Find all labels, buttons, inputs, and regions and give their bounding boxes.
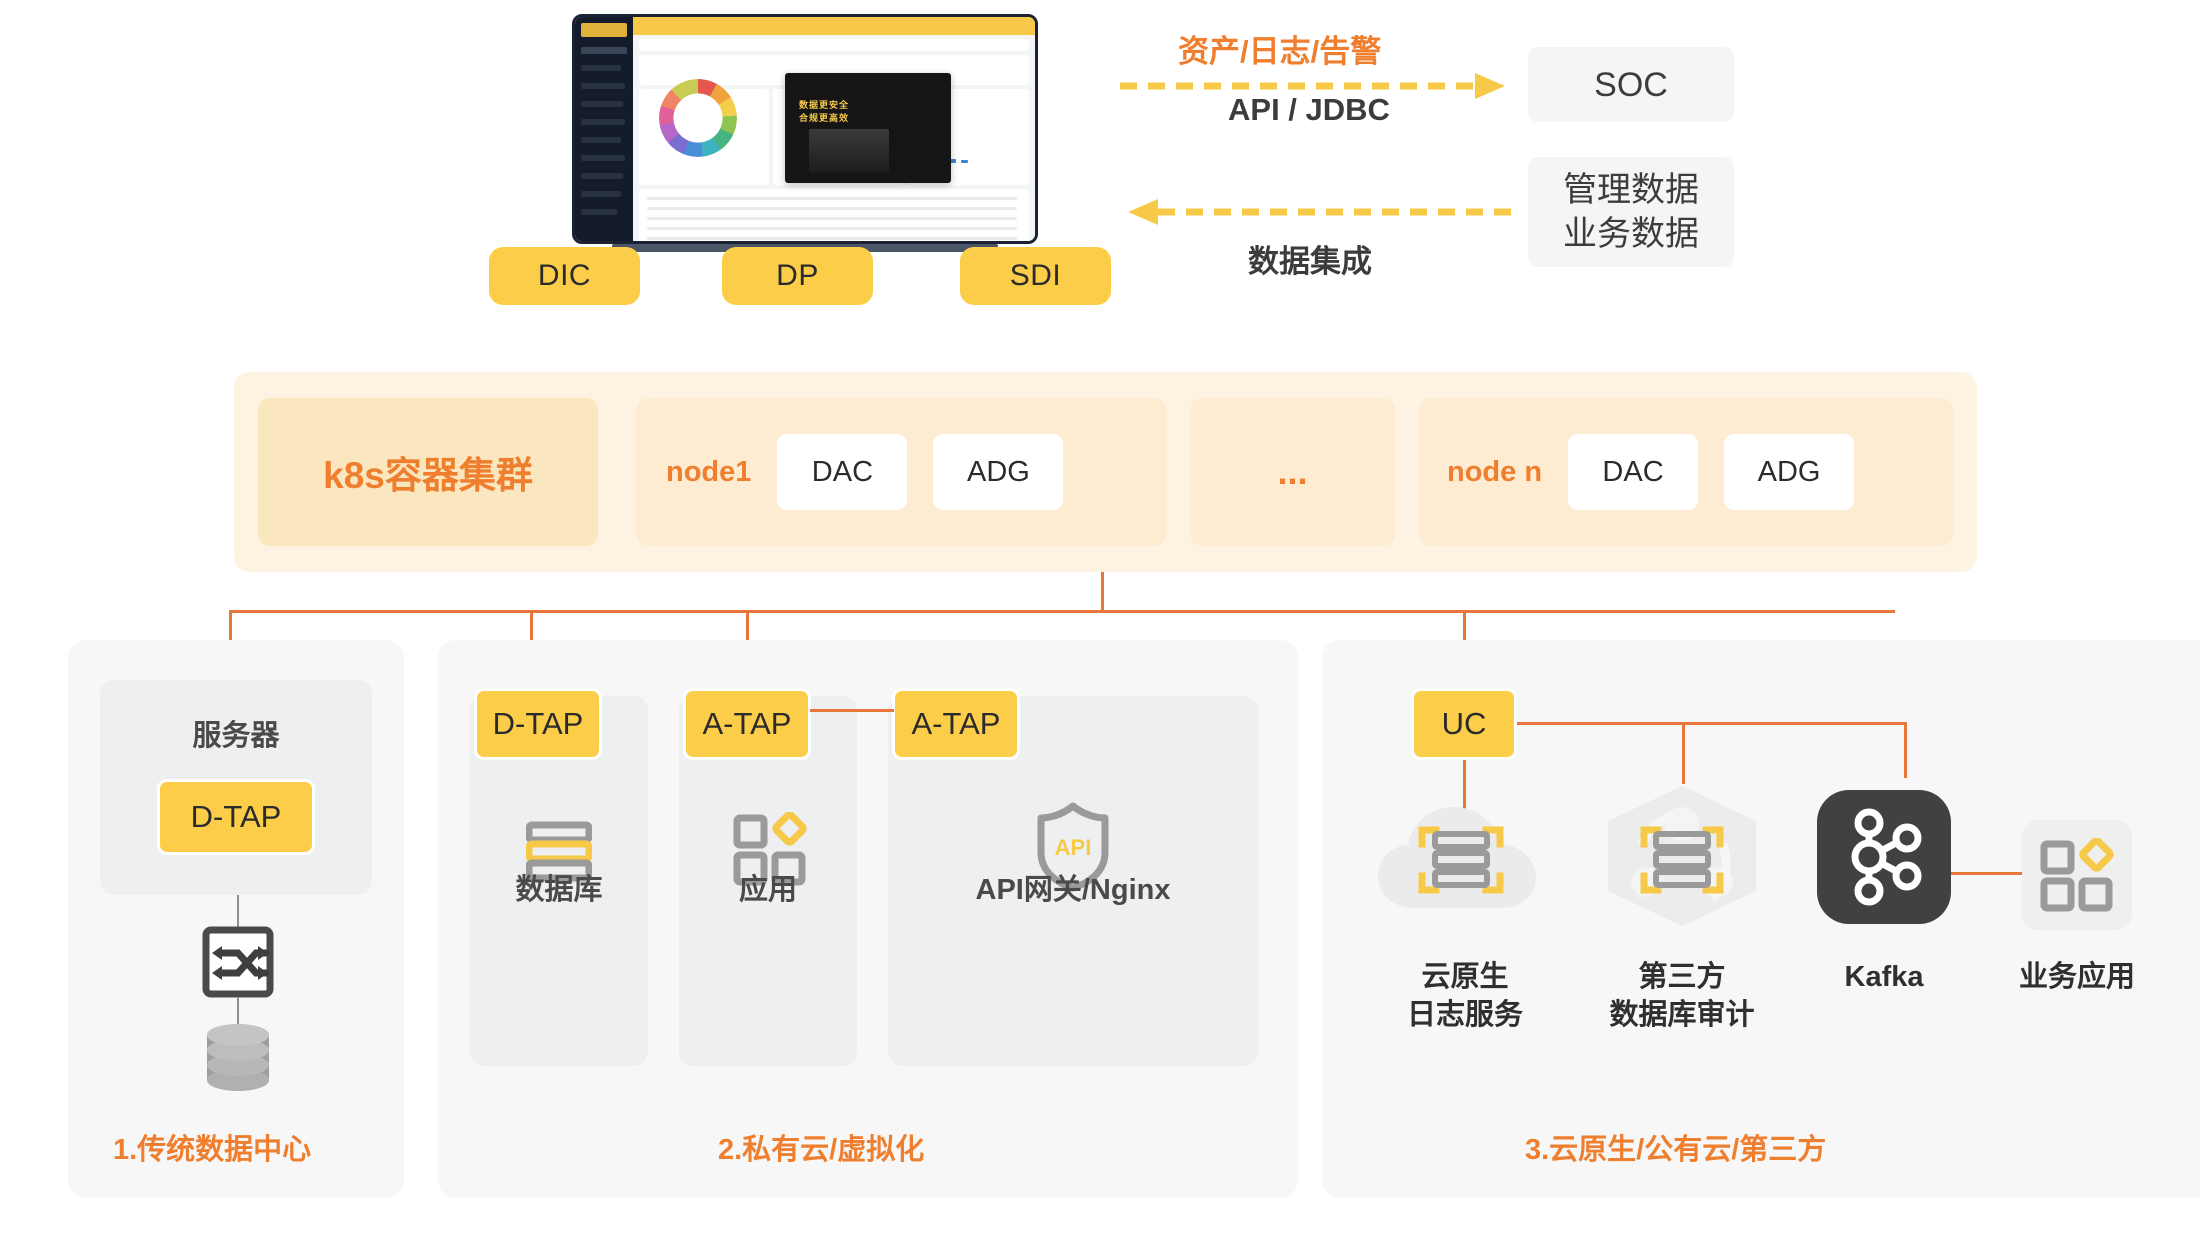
application-icon [2040,838,2114,912]
pill-sdi[interactable]: SDI [960,247,1111,305]
business-app-caption: 业务应用 [1993,958,2161,996]
data-source-box: 管理数据 业务数据 [1528,157,1734,267]
server-title: 服务器 [100,712,372,754]
sidebar-nav-item [581,191,621,197]
flow-label-data-integration: 数据集成 [1248,236,1372,281]
connector-uc-to-kafka [1904,722,1907,778]
dashboard-content: 一体化数据安全平台 数据更安全 合规更高效 [633,35,1035,241]
arrow-to-soc [1120,68,1520,104]
dashboard-sidebar [575,17,633,241]
data-source-line-1: 管理数据 [1563,168,1699,212]
sidebar-nav-item [581,83,625,89]
database-caption: 数据库 [470,866,648,908]
arrow-to-platform [1122,194,1522,230]
soc-label: SOC [1594,63,1668,107]
promo-line-2: 合规更高效 [799,112,849,125]
node-1-name: node1 [666,456,751,489]
promo-line-1: 数据更安全 [799,99,849,112]
section-1-label: 1.传统数据中心 [113,1126,311,1168]
database-icon [203,1022,273,1098]
third-party-caption-line-2: 数据库审计 [1596,996,1768,1034]
connector-uc-to-third-party [1682,722,1685,784]
cloud-log-caption: 云原生 日志服务 [1374,958,1556,1034]
kafka-icon [1817,790,1951,924]
tap-uc[interactable]: UC [1411,688,1517,760]
dashboard-logo [581,23,627,37]
tap-d-tap-server[interactable]: D-TAP [157,779,315,855]
svg-text:API: API [1055,835,1092,860]
data-source-line-2: 业务数据 [1563,212,1699,256]
node-1-chip-adg[interactable]: ADG [933,434,1063,510]
cloud-log-caption-line-1: 云原生 [1374,958,1556,996]
node-n-name: node n [1447,456,1542,489]
hexagon-audit-icon [1596,782,1768,930]
sidebar-nav-item [581,47,627,54]
connector-atap-to-atap [810,709,894,712]
promo-text: 数据更安全 合规更高效 [799,99,849,125]
flow-label-assets-logs-alerts: 资产/日志/告警 [1178,26,1381,71]
sidebar-nav-item [581,65,621,71]
section-3-label: 3.云原生/公有云/第三方 [1525,1126,1826,1168]
node-1-chip-dac[interactable]: DAC [777,434,907,510]
connector-switch-to-db [237,998,239,1024]
application-caption: 应用 [679,866,857,908]
section-2-label: 2.私有云/虚拟化 [718,1126,924,1168]
sidebar-nav-item [581,173,623,179]
dashboard-header-bar [633,17,1035,35]
cloud-log-icon [1374,790,1556,920]
third-party-caption-line-1: 第三方 [1596,958,1768,996]
k8s-node-n: node n DAC ADG [1419,398,1953,546]
sidebar-nav-item [581,101,623,107]
connector-kafka-to-business-app [1950,872,2022,875]
node-ellipsis-label: ... [1277,451,1307,493]
bar-chart-bar [961,160,968,163]
promo-panel: 数据更安全 合规更高效 [785,73,951,183]
tap-a-tap-api-gateway[interactable]: A-TAP [892,688,1020,760]
k8s-cluster-label: k8s容器集群 [258,398,598,546]
pill-dp[interactable]: DP [722,247,873,305]
third-party-audit-caption: 第三方 数据库审计 [1596,958,1768,1034]
api-gateway-caption: API网关/Nginx [888,866,1258,908]
tap-a-tap-application[interactable]: A-TAP [683,688,811,760]
tap-d-tap-database[interactable]: D-TAP [474,688,602,760]
dashboard-filter-bar [639,39,1029,51]
node-n-chip-dac[interactable]: DAC [1568,434,1698,510]
sidebar-nav-item [581,209,617,215]
pill-dic[interactable]: DIC [489,247,640,305]
k8s-node-1: node1 DAC ADG [636,398,1166,546]
connector-bus [229,610,1895,613]
cloud-log-caption-line-2: 日志服务 [1374,996,1556,1034]
product-dashboard-screenshot: 一体化数据安全平台 数据更安全 合规更高效 [572,14,1038,244]
k8s-node-ellipsis: ... [1190,398,1395,546]
connector-server-to-switch [237,895,239,929]
switch-icon [202,926,274,998]
sidebar-nav-item [581,137,621,143]
sidebar-nav-item [581,119,625,125]
connector-k8s-drop [1101,572,1104,612]
sidebar-nav-item [581,155,625,161]
kafka-caption: Kafka [1800,958,1968,996]
connector-uc-bus [1517,722,1907,725]
donut-chart [659,79,737,157]
soc-box: SOC [1528,47,1734,122]
promo-illustration [809,129,889,173]
node-n-chip-adg[interactable]: ADG [1724,434,1854,510]
